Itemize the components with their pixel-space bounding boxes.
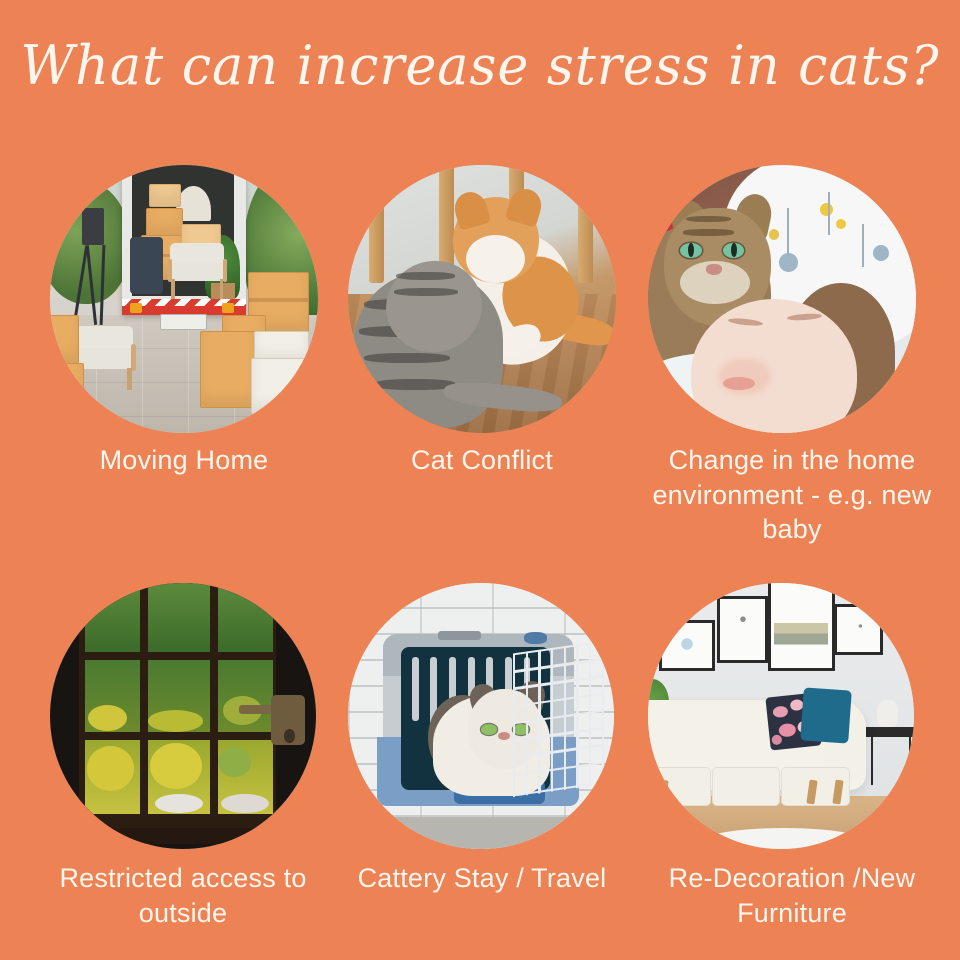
- caption-cattery-travel: Cattery Stay / Travel: [330, 861, 634, 896]
- caption-redecoration: Re-Decoration /New Furniture: [650, 861, 934, 930]
- caption-home-change: Change in the home environment - e.g. ne…: [650, 443, 934, 547]
- page-title: What can increase stress in cats?: [14, 34, 945, 97]
- image-home-change: [648, 165, 916, 433]
- caption-restricted-access: Restricted access to outside: [18, 861, 348, 930]
- caption-moving-home: Moving Home: [24, 443, 344, 478]
- image-cat-conflict: [348, 165, 616, 433]
- image-cattery-travel: [348, 583, 614, 849]
- image-moving-home: [50, 165, 318, 433]
- caption-cat-conflict: Cat Conflict: [322, 443, 642, 478]
- infographic-canvas: What can increase stress in cats?: [0, 0, 960, 960]
- image-restricted-access: [50, 583, 316, 849]
- image-redecoration: [648, 583, 914, 849]
